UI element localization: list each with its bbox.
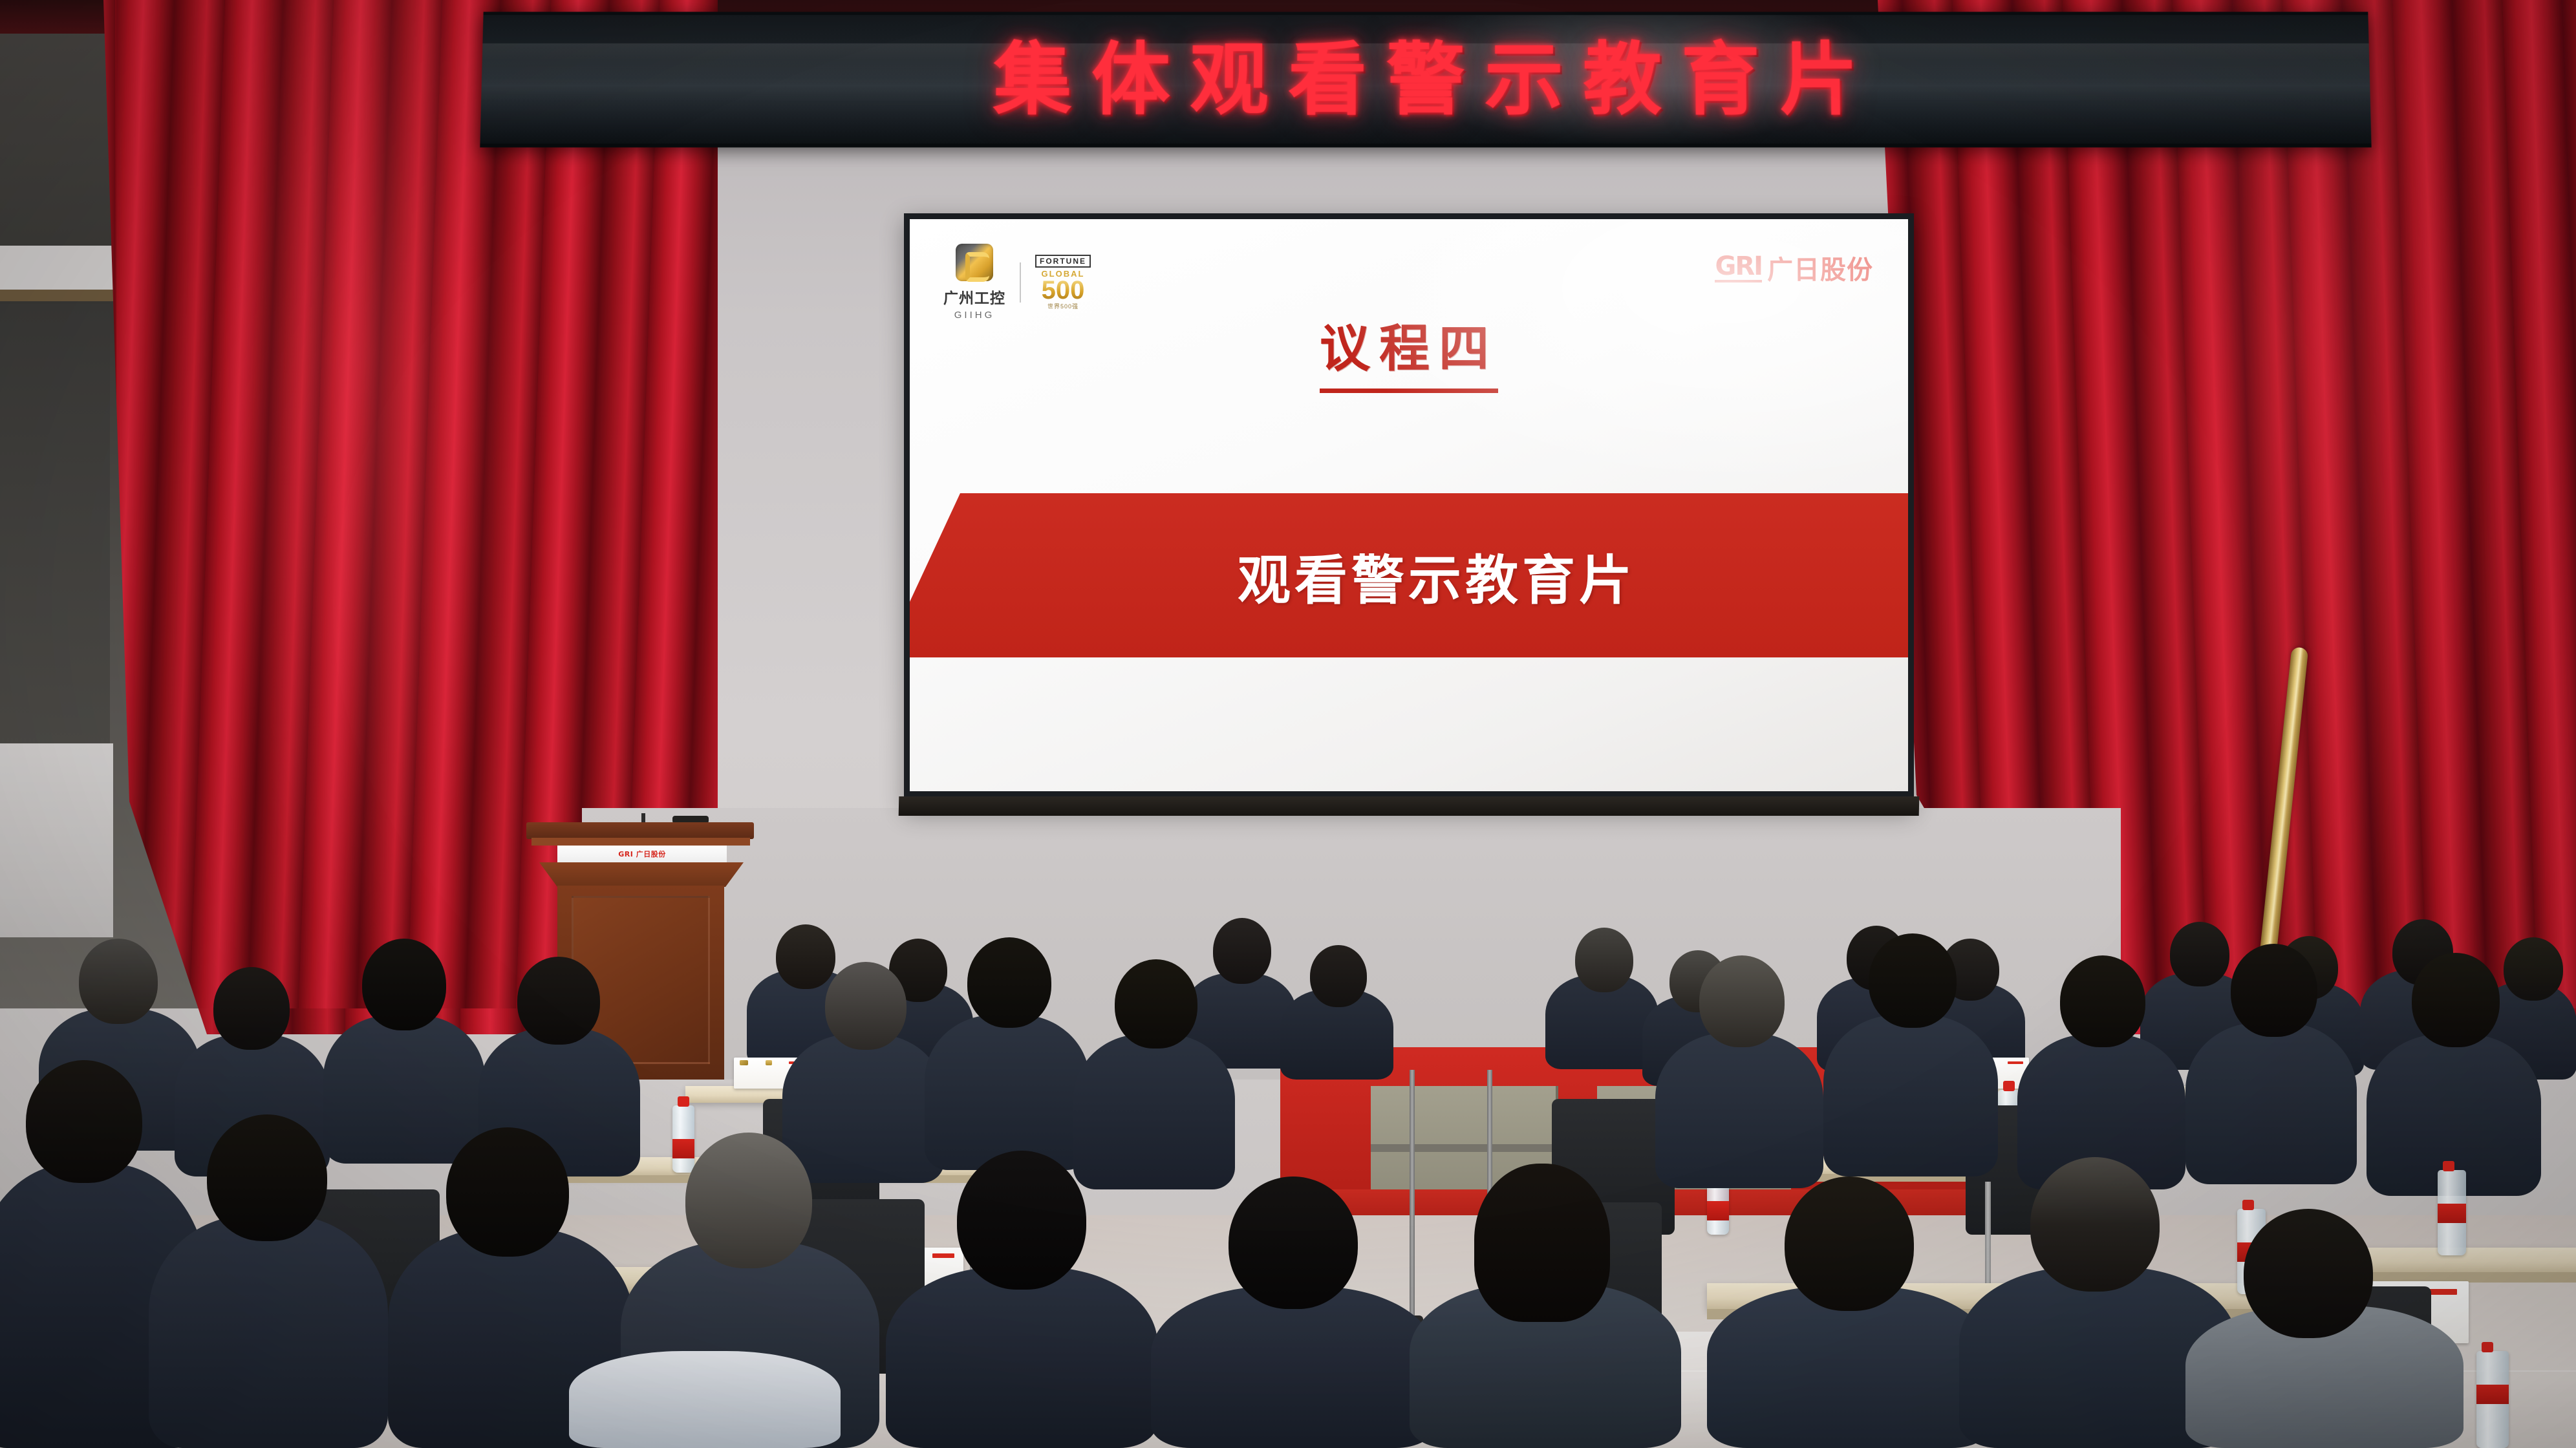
projection-screen-bottom-edge <box>899 796 1920 816</box>
mic-stand-1 <box>1410 1070 1415 1322</box>
attendee-head <box>2412 953 2500 1047</box>
attendee-head <box>2231 944 2317 1037</box>
attendee-head <box>207 1114 327 1241</box>
slide-band-text: 观看警示教育片 <box>910 537 1908 614</box>
attendee-head <box>213 967 290 1050</box>
attendee-head <box>776 924 835 989</box>
placard-fortune-logo-icon <box>766 1060 772 1065</box>
attendee-head <box>1575 928 1633 992</box>
attendee-shoulders <box>2185 1023 2357 1184</box>
left-door-lintel <box>0 290 123 301</box>
led-banner: 集体观看警示教育片 <box>480 12 2371 147</box>
attendee-head <box>26 1060 142 1183</box>
attendee-head <box>362 939 446 1030</box>
attendee-head <box>1785 1176 1914 1311</box>
slide-heading: 议程四 <box>910 308 1908 393</box>
slide-logo-right: GRI 广日股份 <box>1715 249 1873 286</box>
placard-gri-logo-icon <box>2427 1289 2457 1295</box>
attendee-shoulders <box>1151 1286 1435 1448</box>
attendee-head <box>967 937 1051 1028</box>
attendee-head <box>957 1151 1086 1290</box>
podium-brand-sign: GRI 广日股份 <box>557 846 727 862</box>
slide-red-band: 观看警示教育片 <box>910 493 1908 657</box>
gri-name-cn: 广日股份 <box>1767 249 1873 286</box>
attendee-shoulders <box>782 1034 944 1183</box>
attendee-shoulders <box>925 1015 1089 1170</box>
placard-gri-logo-icon <box>2008 1061 2023 1065</box>
attendee-head <box>2060 955 2145 1047</box>
attendee-shoulders <box>149 1215 388 1448</box>
attendee-shoulders <box>1073 1034 1235 1189</box>
left-wall-upper-strip <box>0 246 129 291</box>
attendee-shoulders <box>323 1015 485 1164</box>
placard-gri-logo-icon <box>932 1253 954 1258</box>
attendee-head <box>1115 959 1197 1049</box>
gri-mark: GRI <box>1715 253 1762 282</box>
fortune-global-500-badge: FORTUNE GLOBAL 500 世界500强 <box>1035 255 1091 310</box>
attendee-shoulders-white-shirt <box>569 1351 841 1448</box>
attendee-head <box>1213 918 1271 984</box>
attendee-head-long-hair <box>1474 1164 1610 1322</box>
left-wall-cabinet <box>0 743 113 937</box>
water-bottle <box>2476 1351 2509 1448</box>
attendee-head <box>1699 955 1785 1047</box>
giihg-g-mark-icon <box>956 244 993 281</box>
projection-screen-frame: 广州工控 GIIHG FORTUNE GLOBAL 500 世界500强 GRI… <box>904 213 1914 808</box>
attendee-head <box>1229 1176 1358 1309</box>
banner-title-text: 集体观看警示教育片 <box>480 40 2370 119</box>
slide-heading-text: 议程四 <box>1320 308 1498 393</box>
giihg-name-cn: 广州工控 <box>943 286 1005 308</box>
podium-top-cap <box>526 822 754 839</box>
fortune-number: 500 <box>1042 278 1085 303</box>
attendee-head <box>1310 945 1367 1007</box>
attendee-head <box>685 1133 812 1268</box>
conference-hall-photo: 集体观看警示教育片 广州工控 GIIHG FORTUNE GLOBAL 500 … <box>0 0 2576 1448</box>
left-doorway <box>0 304 110 750</box>
attendee-head <box>2244 1209 2373 1338</box>
attendee-head <box>2504 937 2563 1001</box>
attendee-head <box>2030 1157 2160 1292</box>
attendee-head <box>446 1127 569 1257</box>
attendee-shoulders <box>1655 1033 1823 1188</box>
logo-divider <box>1020 262 1021 303</box>
water-bottle <box>672 1105 694 1173</box>
attendee-head <box>825 962 907 1050</box>
podium-top-lip <box>531 838 750 846</box>
attendee-head <box>1869 933 1957 1028</box>
attendee-shoulders <box>886 1267 1157 1448</box>
podium-sign-text: GRI 广日股份 <box>618 849 665 859</box>
podium-apron <box>539 862 744 887</box>
presentation-slide: 广州工控 GIIHG FORTUNE GLOBAL 500 世界500强 GRI… <box>910 219 1908 791</box>
attendee-head <box>2170 922 2229 986</box>
placard-giihg-logo-icon <box>740 1060 748 1065</box>
attendee-head <box>517 957 600 1045</box>
fortune-label: FORTUNE <box>1035 255 1091 268</box>
attendee-shoulders <box>1823 1015 1998 1176</box>
water-bottle <box>2438 1170 2466 1255</box>
attendee-head <box>79 939 158 1024</box>
